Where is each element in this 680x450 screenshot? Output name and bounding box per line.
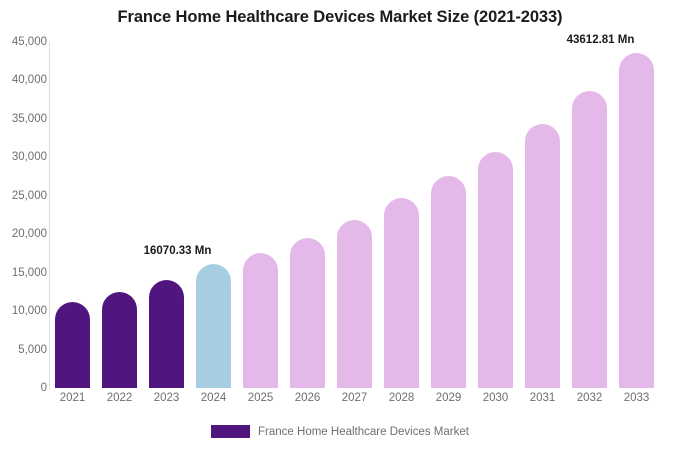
- x-axis-tick-2032: 2032: [566, 392, 613, 404]
- value-annotation-2033: 43612.81 Mn: [567, 34, 635, 46]
- bar-2023[interactable]: [149, 280, 184, 388]
- x-axis-tick-2022: 2022: [96, 392, 143, 404]
- x-axis-tick-2033: 2033: [613, 392, 660, 404]
- market-size-bar-chart: France Home Healthcare Devices Market Si…: [0, 0, 680, 450]
- y-axis-tick-0: 0: [3, 382, 47, 394]
- bar-2033[interactable]: [619, 53, 654, 388]
- bar-2024[interactable]: [196, 264, 231, 388]
- legend-label-series-0: France Home Healthcare Devices Market: [258, 426, 469, 438]
- bar-2026[interactable]: [290, 238, 325, 388]
- bar-2027[interactable]: [337, 220, 372, 388]
- x-axis-tick-2029: 2029: [425, 392, 472, 404]
- y-axis-tick-20000: 20,000: [3, 228, 47, 240]
- x-axis-tick-2024: 2024: [190, 392, 237, 404]
- y-axis-tick-40000: 40,000: [3, 74, 47, 86]
- chart-legend: France Home Healthcare Devices Market: [0, 425, 680, 438]
- bar-2030[interactable]: [478, 152, 513, 388]
- y-axis: 05,00010,00015,00020,00025,00030,00035,0…: [0, 42, 47, 388]
- bar-2021[interactable]: [55, 302, 90, 388]
- x-axis-tick-2028: 2028: [378, 392, 425, 404]
- x-axis-tick-2021: 2021: [49, 392, 96, 404]
- bar-2022[interactable]: [102, 292, 137, 388]
- y-axis-tick-15000: 15,000: [3, 267, 47, 279]
- legend-swatch-series-0: [211, 425, 250, 438]
- plot-area: [49, 42, 680, 388]
- y-axis-tick-45000: 45,000: [3, 36, 47, 48]
- bar-2032[interactable]: [572, 91, 607, 388]
- value-annotation-2024: 16070.33 Mn: [144, 245, 212, 257]
- bar-2031[interactable]: [525, 124, 560, 388]
- y-axis-tick-5000: 5,000: [3, 344, 47, 356]
- y-axis-tick-10000: 10,000: [3, 305, 47, 317]
- y-axis-tick-35000: 35,000: [3, 113, 47, 125]
- x-axis-tick-2031: 2031: [519, 392, 566, 404]
- y-axis-tick-25000: 25,000: [3, 190, 47, 202]
- x-axis-tick-2030: 2030: [472, 392, 519, 404]
- x-axis-tick-2023: 2023: [143, 392, 190, 404]
- bar-2029[interactable]: [431, 176, 466, 388]
- x-axis-tick-2027: 2027: [331, 392, 378, 404]
- bar-2028[interactable]: [384, 198, 419, 388]
- x-axis-tick-2025: 2025: [237, 392, 284, 404]
- x-axis-tick-2026: 2026: [284, 392, 331, 404]
- bar-2025[interactable]: [243, 253, 278, 388]
- y-axis-tick-30000: 30,000: [3, 151, 47, 163]
- chart-title: France Home Healthcare Devices Market Si…: [0, 8, 680, 27]
- x-axis: 2021202220232024202520262027202820292030…: [49, 392, 680, 412]
